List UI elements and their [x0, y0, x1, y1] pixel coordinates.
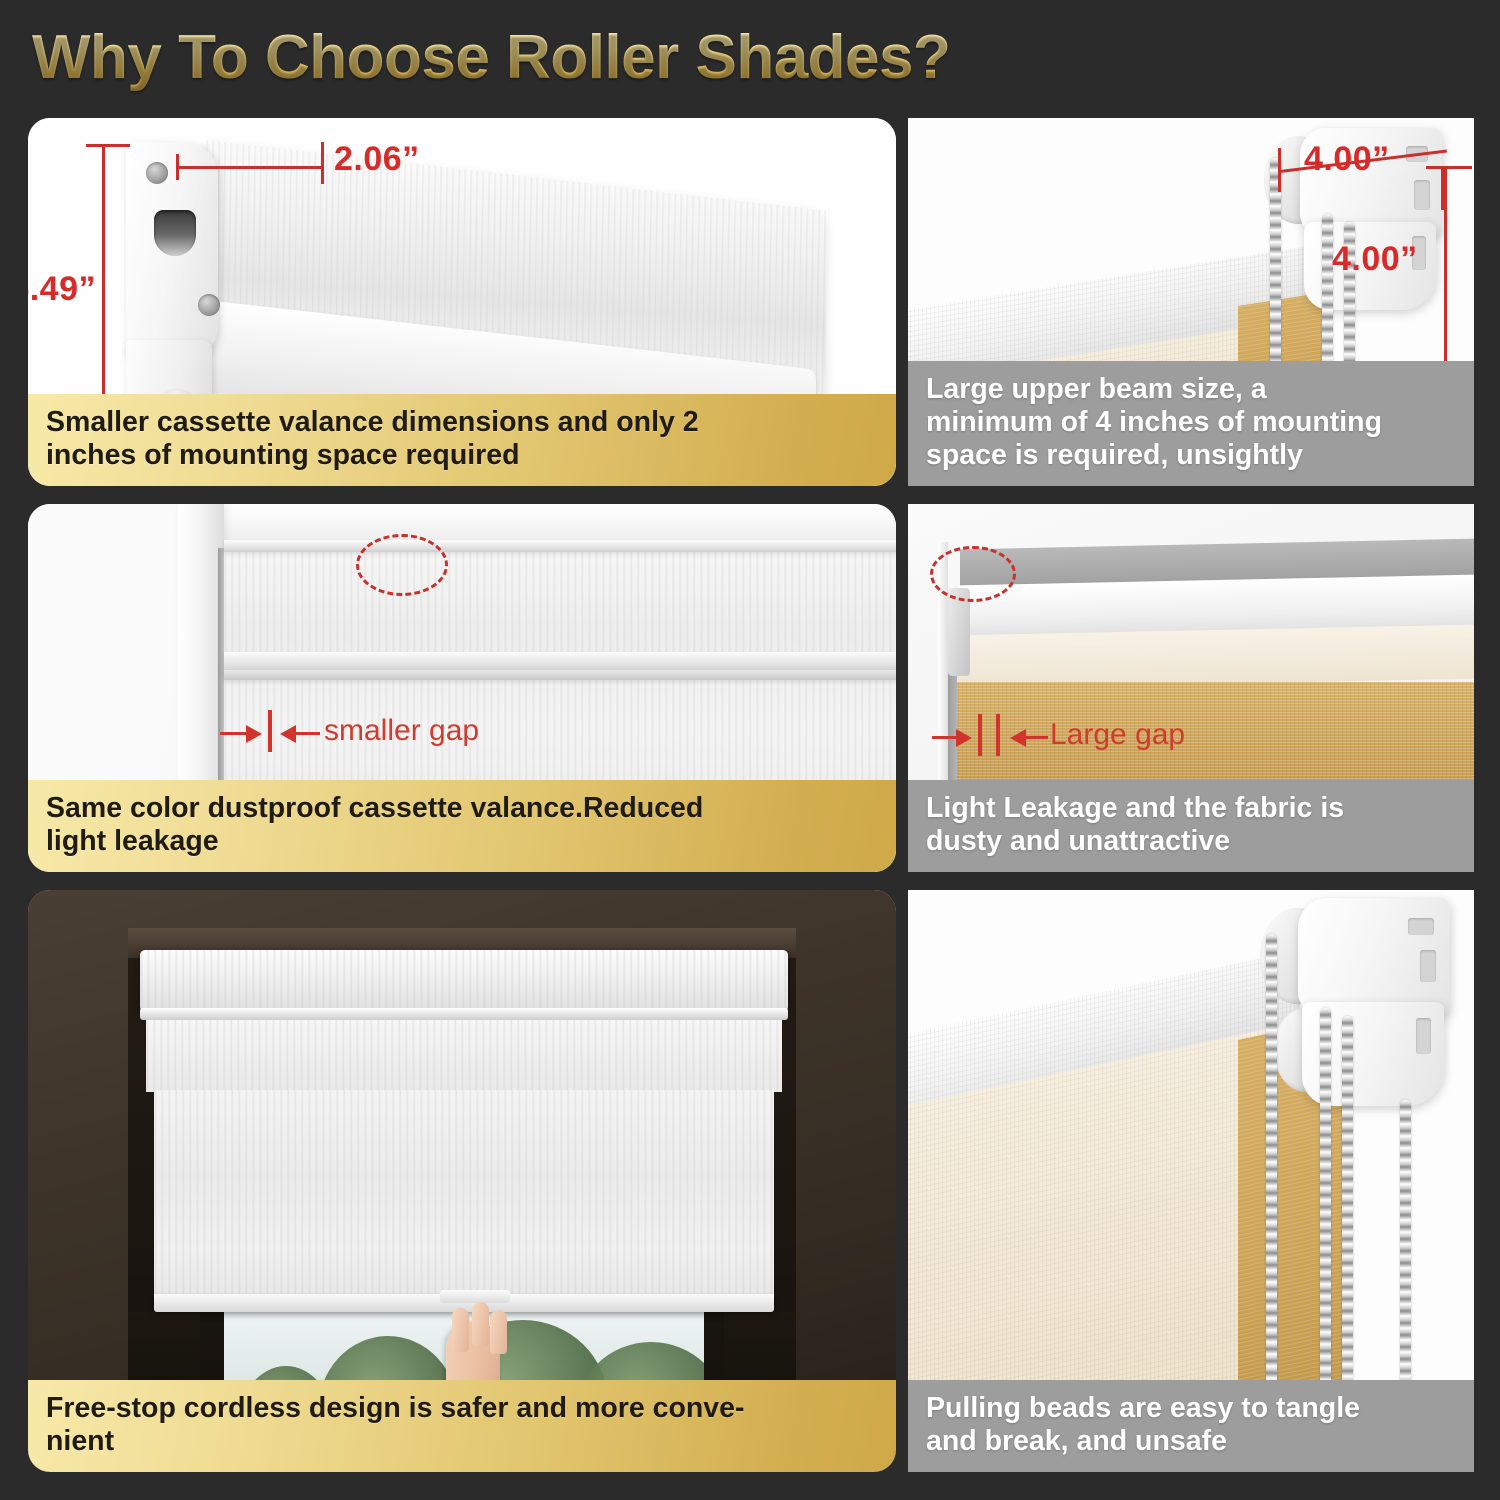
caption-con-pulling-beads: Pulling beads are easy to tangle and bre… [908, 1380, 1474, 1472]
bead-chain [1266, 934, 1277, 1446]
gap-callout-label: Large gap [1050, 718, 1185, 752]
detail-highlight-ring [930, 546, 1016, 602]
caption-pro-dustproof-valance: Same color dustproof cassette valance.Re… [28, 780, 896, 872]
panel-con-light-leakage: Large gap Light Leakage and the fabric i… [908, 504, 1474, 872]
caption-line: light leakage [46, 825, 880, 858]
beam-height-tick-top [1426, 166, 1472, 169]
caption-line: and break, and unsafe [926, 1425, 1458, 1458]
panel-pro-cassette-dimensions: 2.06” 5.49” Smaller cassette valance dim… [28, 118, 896, 486]
caption-line: minimum of 4 inches of mounting [926, 406, 1458, 439]
caption-line: Same color dustproof cassette valance.Re… [46, 792, 880, 825]
caption-line: inches of mounting space required [46, 439, 880, 472]
caption-pro-cassette-dimensions: Smaller cassette valance dimensions and … [28, 394, 896, 486]
height-tick-top [86, 144, 130, 147]
panel-con-upper-beam-size: 4.00” 4.00” Large upper beam size, a min… [908, 118, 1474, 486]
caption-line: Free-stop cordless design is safer and m… [46, 1392, 880, 1425]
gap-marker-bar [268, 710, 272, 752]
beam-height-dimension-label: 4.00” [1332, 240, 1418, 279]
height-dimension-label: 5.49” [28, 270, 96, 309]
gap-callout-label: smaller gap [324, 714, 479, 748]
gap-marker-bar-outer [996, 714, 1000, 756]
caption-line: Light Leakage and the fabric is [926, 792, 1458, 825]
caption-line: nient [46, 1425, 880, 1458]
gap-arrow-stem-right [294, 732, 320, 735]
caption-line: Smaller cassette valance dimensions and … [46, 406, 880, 439]
width-dimension-line [176, 166, 324, 169]
detail-highlight-ring [356, 534, 448, 596]
width-dimension-label: 2.06” [334, 140, 420, 179]
caption-line: dusty and unattractive [926, 825, 1458, 858]
width-tick-right [321, 142, 324, 184]
gap-marker-bar-inner [978, 714, 982, 756]
panel-con-pulling-beads: Pulling beads are easy to tangle and bre… [908, 890, 1474, 1472]
caption-line: Large upper beam size, a [926, 373, 1458, 406]
gap-arrow-right-icon [956, 729, 972, 747]
gap-arrow-stem-left [220, 732, 248, 735]
panel-pro-cordless-design: Free-stop cordless design is safer and m… [28, 890, 896, 1472]
gap-arrow-stem-right [1024, 736, 1048, 739]
caption-con-upper-beam-size: Large upper beam size, a minimum of 4 in… [908, 361, 1474, 486]
comparison-grid: 2.06” 5.49” Smaller cassette valance dim… [0, 0, 1500, 1500]
gap-arrow-right-icon [246, 725, 262, 743]
caption-line: space is required, unsightly [926, 439, 1458, 472]
caption-line: Pulling beads are easy to tangle [926, 1392, 1458, 1425]
caption-con-light-leakage: Light Leakage and the fabric is dusty an… [908, 780, 1474, 872]
caption-pro-cordless-design: Free-stop cordless design is safer and m… [28, 1380, 896, 1472]
beam-width-dimension-label: 4.00” [1304, 140, 1390, 179]
gap-arrow-stem-left [932, 736, 958, 739]
panel-pro-dustproof-valance: smaller gap Same color dustproof cassett… [28, 504, 896, 872]
beam-width-tick-left [1278, 148, 1281, 192]
width-tick-left [176, 154, 179, 180]
beam-height-dimension-line [1444, 166, 1447, 372]
